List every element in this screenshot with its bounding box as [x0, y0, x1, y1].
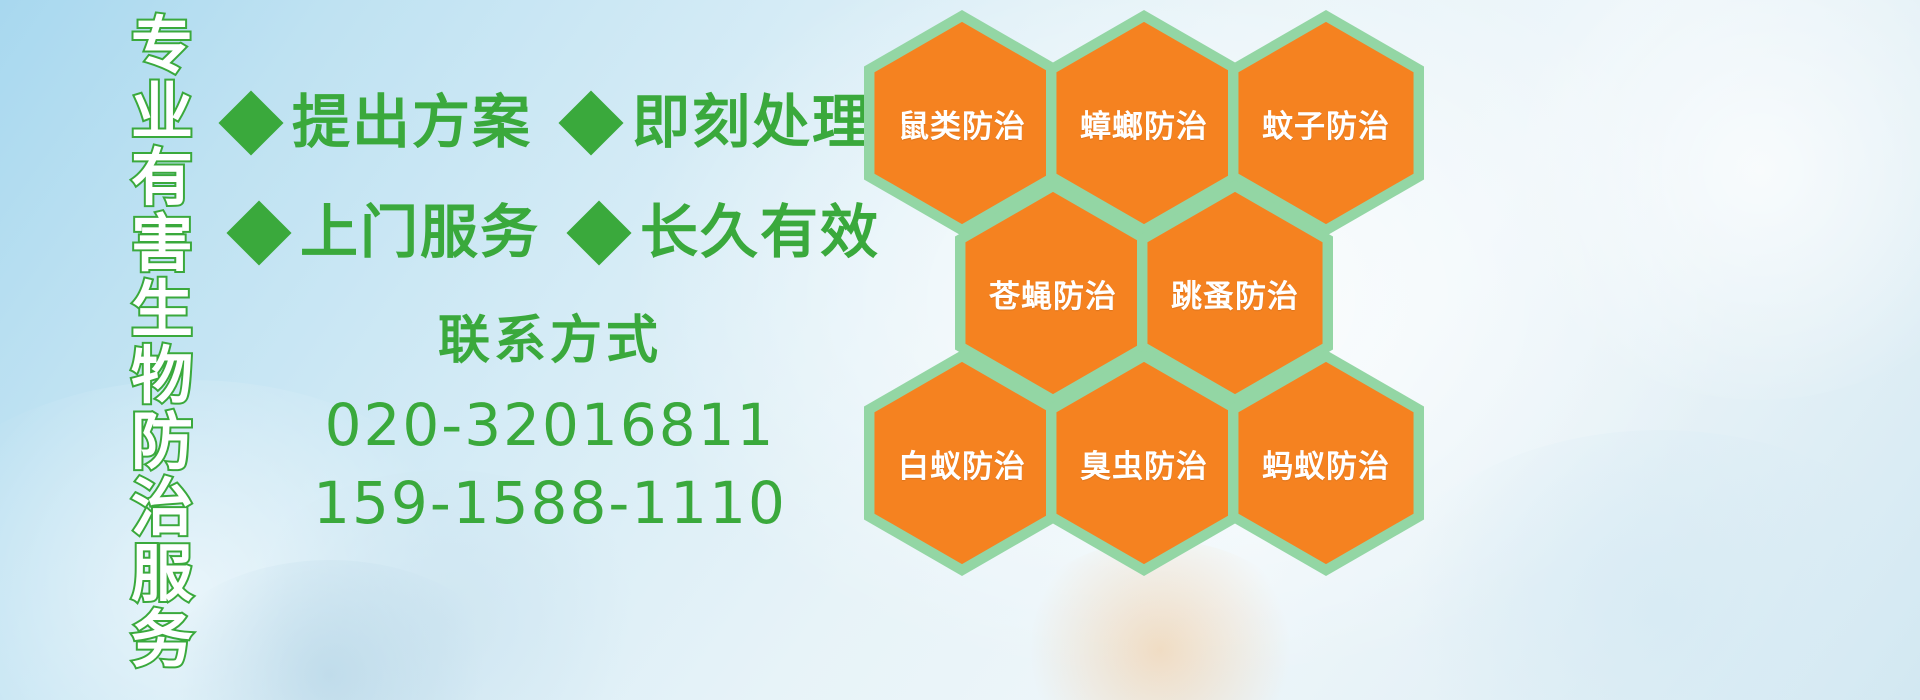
vertical-headline-char: 生	[131, 278, 193, 344]
vertical-headline-char: 有	[131, 146, 193, 212]
feature-label: 提出方案	[292, 92, 532, 154]
vertical-headline-char: 防	[131, 410, 193, 476]
feature-label: 即刻处理	[632, 92, 872, 154]
vertical-headline-char: 治	[131, 476, 193, 542]
service-hex-label: 臭虫防治	[1046, 350, 1242, 576]
contact-phone-mobile[interactable]: 159-1588-1110	[270, 464, 830, 542]
service-hex-label: 白蚁防治	[864, 350, 1060, 576]
service-hex-label: 蚂蚁防治	[1228, 350, 1424, 576]
feature-row-top: 提出方案 即刻处理	[228, 92, 872, 154]
vertical-headline-char: 专	[131, 14, 193, 80]
service-honeycomb-grid: 鼠类防治 蟑螂防治 蚊子防治 苍蝇防治 跳蚤防治 白蚁防治	[856, 0, 1476, 560]
feature-item-immediate-handling: 即刻处理	[568, 92, 872, 154]
feature-item-long-lasting-effect: 长久有效	[576, 202, 880, 264]
contact-heading: 联系方式	[270, 312, 830, 370]
vertical-headline-char: 害	[131, 212, 193, 278]
diamond-bullet-icon	[218, 90, 283, 155]
feature-label: 上门服务	[300, 202, 540, 264]
contact-block: 联系方式 020-32016811 159-1588-1110	[270, 312, 830, 542]
vertical-headline-char: 物	[131, 344, 193, 410]
background-bloom-top-right	[1500, 0, 1920, 400]
service-hex-ant-control[interactable]: 蚂蚁防治	[1228, 350, 1424, 576]
contact-phone-landline[interactable]: 020-32016811	[270, 386, 830, 464]
diamond-bullet-icon	[226, 200, 291, 265]
vertical-headline-char: 服	[131, 542, 193, 608]
vertical-headline-char: 务	[131, 608, 193, 674]
feature-item-door-to-door-service: 上门服务	[236, 202, 540, 264]
service-hex-termite-control[interactable]: 白蚁防治	[864, 350, 1060, 576]
vertical-headline-char: 业	[131, 80, 193, 146]
pest-control-banner: 专 业 有 害 生 物 防 治 服 务 提出方案 即刻处理 上门服务 长久有效	[0, 0, 1920, 700]
feature-label: 长久有效	[640, 202, 880, 264]
diamond-bullet-icon	[566, 200, 631, 265]
feature-item-propose-plan: 提出方案	[228, 92, 532, 154]
diamond-bullet-icon	[558, 90, 623, 155]
vertical-headline: 专 业 有 害 生 物 防 治 服 务	[112, 14, 212, 694]
service-hex-bedbug-control[interactable]: 臭虫防治	[1046, 350, 1242, 576]
feature-row-bottom: 上门服务 长久有效	[236, 202, 880, 264]
